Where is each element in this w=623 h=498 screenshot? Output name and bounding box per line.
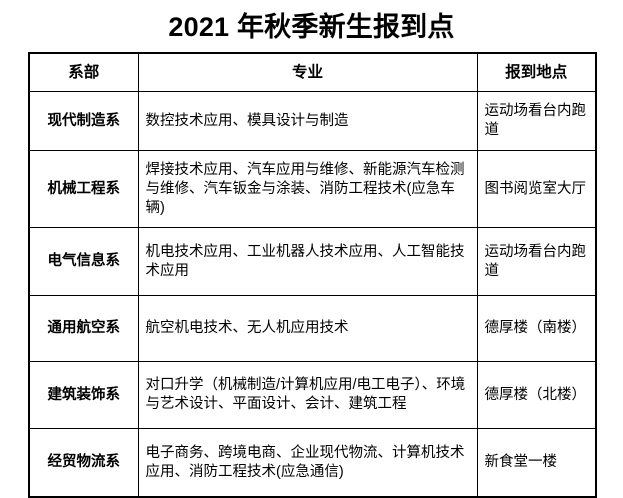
table-header: 系部 专业 报到地点 [29, 53, 596, 92]
table-row: 通用航空系 航空机电技术、无人机应用技术 德厚楼（南楼） [29, 296, 596, 362]
table-body: 现代制造系 数控技术应用、模具设计与制造 运动场看台内跑道 机械工程系 焊接技术… [29, 92, 596, 498]
registration-table: 系部 专业 报到地点 现代制造系 数控技术应用、模具设计与制造 运动场看台内跑道… [28, 52, 597, 498]
cell-department: 现代制造系 [29, 92, 138, 151]
cell-major: 航空机电技术、无人机应用技术 [138, 296, 477, 362]
cell-location: 图书阅览室大厅 [477, 151, 596, 228]
column-header-department: 系部 [29, 53, 138, 92]
table-row: 机械工程系 焊接技术应用、汽车应用与维修、新能源汽车检测与维修、汽车钣金与涂装、… [29, 151, 596, 228]
document-page: 2021 年秋季新生报到点 系部 专业 报到地点 现代制造系 数控技术应用、模具… [0, 0, 623, 468]
cell-department: 建筑装饰系 [29, 362, 138, 429]
cell-location: 新食堂一楼 [477, 429, 596, 498]
table-row: 电气信息系 机电技术应用、工业机器人技术应用、人工智能技术应用 运动场看台内跑道 [29, 228, 596, 296]
cell-location: 德厚楼（北楼） [477, 362, 596, 429]
cell-department: 电气信息系 [29, 228, 138, 296]
page-title: 2021 年秋季新生报到点 [0, 9, 623, 45]
cell-location: 运动场看台内跑道 [477, 92, 596, 151]
table-row: 建筑装饰系 对口升学（机械制造/计算机应用/电工电子）、环境与艺术设计、平面设计… [29, 362, 596, 429]
cell-department: 机械工程系 [29, 151, 138, 228]
cell-department: 经贸物流系 [29, 429, 138, 498]
cell-department: 通用航空系 [29, 296, 138, 362]
cell-major: 机电技术应用、工业机器人技术应用、人工智能技术应用 [138, 228, 477, 296]
cell-location: 德厚楼（南楼） [477, 296, 596, 362]
cell-location: 运动场看台内跑道 [477, 228, 596, 296]
table-row: 现代制造系 数控技术应用、模具设计与制造 运动场看台内跑道 [29, 92, 596, 151]
cell-major: 电子商务、跨境电商、企业现代物流、计算机技术应用、消防工程技术(应急通信) [138, 429, 477, 498]
cell-major: 对口升学（机械制造/计算机应用/电工电子）、环境与艺术设计、平面设计、会计、建筑… [138, 362, 477, 429]
registration-table-container: 系部 专业 报到地点 现代制造系 数控技术应用、模具设计与制造 运动场看台内跑道… [28, 52, 595, 498]
cell-major: 焊接技术应用、汽车应用与维修、新能源汽车检测与维修、汽车钣金与涂装、消防工程技术… [138, 151, 477, 228]
table-row: 经贸物流系 电子商务、跨境电商、企业现代物流、计算机技术应用、消防工程技术(应急… [29, 429, 596, 498]
cell-major: 数控技术应用、模具设计与制造 [138, 92, 477, 151]
column-header-location: 报到地点 [477, 53, 596, 92]
column-header-major: 专业 [138, 53, 477, 92]
table-header-row: 系部 专业 报到地点 [29, 53, 596, 92]
